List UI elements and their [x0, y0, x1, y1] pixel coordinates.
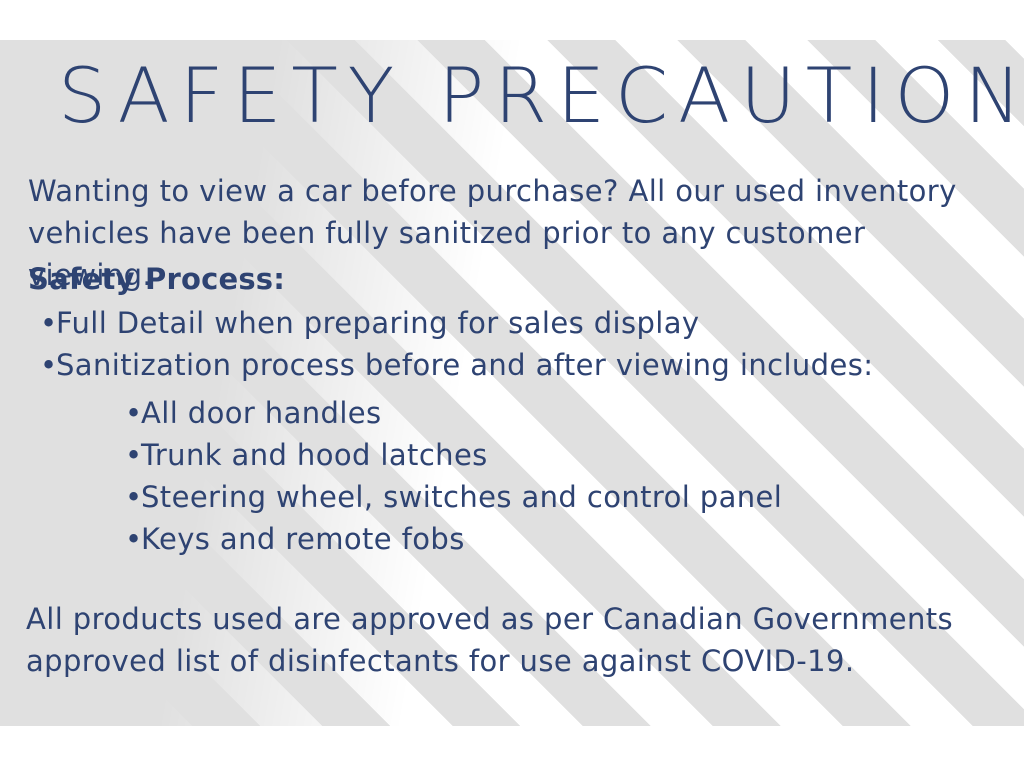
bullet-icon: •: [40, 344, 56, 386]
bullet-icon: •: [40, 302, 56, 344]
list-item-label: Keys and remote fobs: [141, 522, 465, 556]
list-item-label: Full Detail when preparing for sales dis…: [56, 306, 699, 340]
list-item-label: Steering wheel, switches and control pan…: [141, 480, 782, 514]
outro-line-2: approved list of disinfectants for use a…: [26, 640, 986, 682]
bullet-icon: •: [125, 518, 141, 560]
intro-line-1: Wanting to view a car before purchase? A…: [28, 170, 993, 212]
safety-process-heading: Safety Process:: [28, 258, 285, 300]
outro-paragraph: All products used are approved as per Ca…: [26, 598, 986, 682]
list-item: •Keys and remote fobs: [125, 518, 945, 560]
content-band: SAFETY PRECAUTIONS Wanting to view a car…: [0, 40, 1024, 726]
process-sub-bullet-list: •All door handles •Trunk and hood latche…: [125, 392, 945, 560]
list-item-label: Trunk and hood latches: [141, 438, 488, 472]
bullet-icon: •: [125, 476, 141, 518]
list-item-label: All door handles: [141, 396, 382, 430]
bullet-icon: •: [125, 392, 141, 434]
page-title: SAFETY PRECAUTIONS: [58, 56, 1024, 136]
list-item: •Steering wheel, switches and control pa…: [125, 476, 945, 518]
bullet-icon: •: [125, 434, 141, 476]
list-item: •Full Detail when preparing for sales di…: [40, 302, 940, 344]
list-item-label: Sanitization process before and after vi…: [56, 348, 873, 382]
poster-canvas: SAFETY PRECAUTIONS Wanting to view a car…: [0, 0, 1024, 768]
list-item: •All door handles: [125, 392, 945, 434]
process-bullet-list: •Full Detail when preparing for sales di…: [40, 302, 940, 386]
list-item: •Trunk and hood latches: [125, 434, 945, 476]
poster-content: SAFETY PRECAUTIONS Wanting to view a car…: [0, 40, 1024, 726]
list-item: •Sanitization process before and after v…: [40, 344, 940, 386]
outro-line-1: All products used are approved as per Ca…: [26, 598, 986, 640]
